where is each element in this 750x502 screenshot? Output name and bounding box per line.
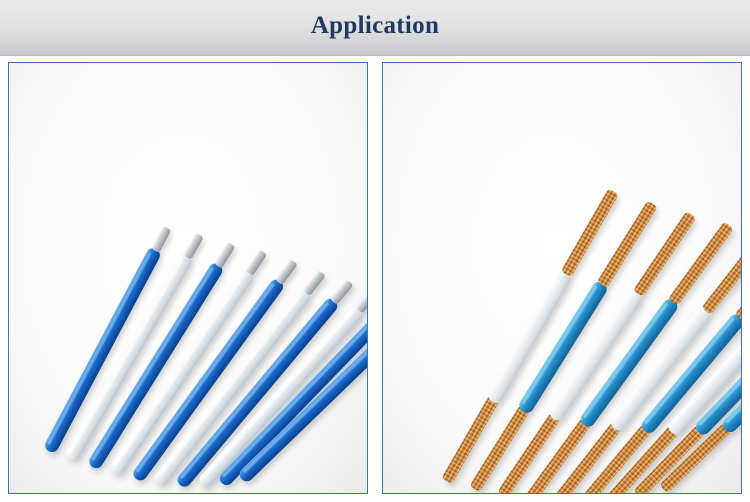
header-bar: Application bbox=[0, 0, 750, 56]
page-root: Application bbox=[0, 0, 750, 502]
wire-illustration-left bbox=[9, 63, 367, 493]
product-image-left bbox=[8, 62, 368, 494]
wire-illustration-right bbox=[383, 63, 741, 493]
page-title: Application bbox=[0, 12, 750, 40]
product-image-right bbox=[382, 62, 742, 494]
page-footer bbox=[0, 494, 750, 502]
